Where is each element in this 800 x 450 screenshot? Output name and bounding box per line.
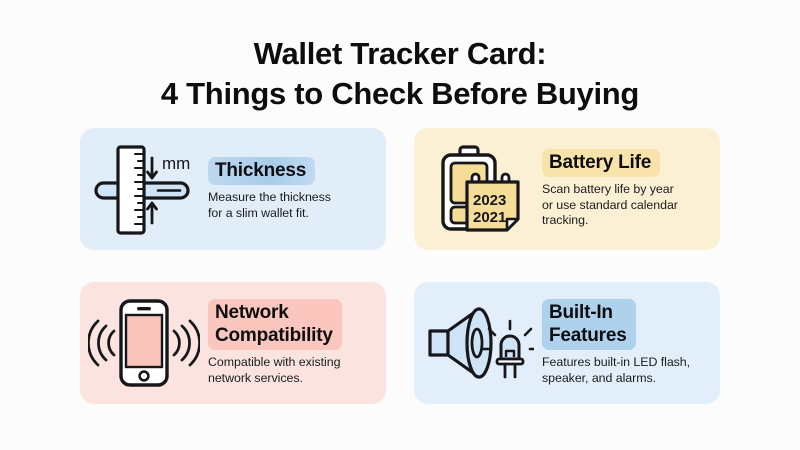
battery-calendar-icon: 2023 2021 xyxy=(426,141,530,237)
card-network-compatibility[interactable]: Network Compatibility Compatible with ex… xyxy=(80,282,386,404)
smartphone-signal-icon xyxy=(88,293,200,393)
card-description-thickness: Measure the thickness for a slim wallet … xyxy=(208,190,376,221)
icon-zone-network-compatibility xyxy=(80,282,208,404)
card-description-network-compatibility: Compatible with existing network service… xyxy=(208,355,376,386)
page-title: Wallet Tracker Card: 4 Things to Check B… xyxy=(0,34,800,114)
calendar-year-1: 2023 xyxy=(473,192,506,209)
card-description-battery-life: Scan battery life by year or use standar… xyxy=(542,182,710,229)
infographic-page: Wallet Tracker Card: 4 Things to Check B… xyxy=(0,0,800,450)
text-zone-battery-life: Battery Life Scan battery life by year o… xyxy=(542,128,720,250)
text-zone-thickness: Thickness Measure the thickness for a sl… xyxy=(208,128,386,250)
mm-label: mm xyxy=(162,154,190,173)
card-battery-life[interactable]: 2023 2021 Battery Life Scan battery life… xyxy=(414,128,720,250)
icon-zone-thickness: mm xyxy=(80,128,208,250)
cards-grid: mm Thickness Measure the thickness for a… xyxy=(80,128,720,404)
card-thickness[interactable]: mm Thickness Measure the thickness for a… xyxy=(80,128,386,250)
text-zone-network-compatibility: Network Compatibility Compatible with ex… xyxy=(208,282,386,404)
card-description-built-in-features: Features built-in LED flash, speaker, an… xyxy=(542,355,710,386)
page-title-line-2: 4 Things to Check Before Buying xyxy=(0,74,800,114)
card-title-network-compatibility: Network Compatibility xyxy=(208,299,342,350)
card-title-battery-life: Battery Life xyxy=(542,149,660,177)
speaker-led-icon xyxy=(422,297,534,389)
card-title-thickness: Thickness xyxy=(208,157,315,185)
text-zone-built-in-features: Built-In Features Features built-in LED … xyxy=(542,282,720,404)
icon-zone-built-in-features xyxy=(414,282,542,404)
ruler-caliper-icon: mm xyxy=(88,141,200,237)
calendar-year-2: 2021 xyxy=(473,209,506,226)
card-title-built-in-features: Built-In Features xyxy=(542,299,636,350)
icon-zone-battery-life: 2023 2021 xyxy=(414,128,542,250)
page-title-line-1: Wallet Tracker Card: xyxy=(0,34,800,74)
card-built-in-features[interactable]: Built-In Features Features built-in LED … xyxy=(414,282,720,404)
